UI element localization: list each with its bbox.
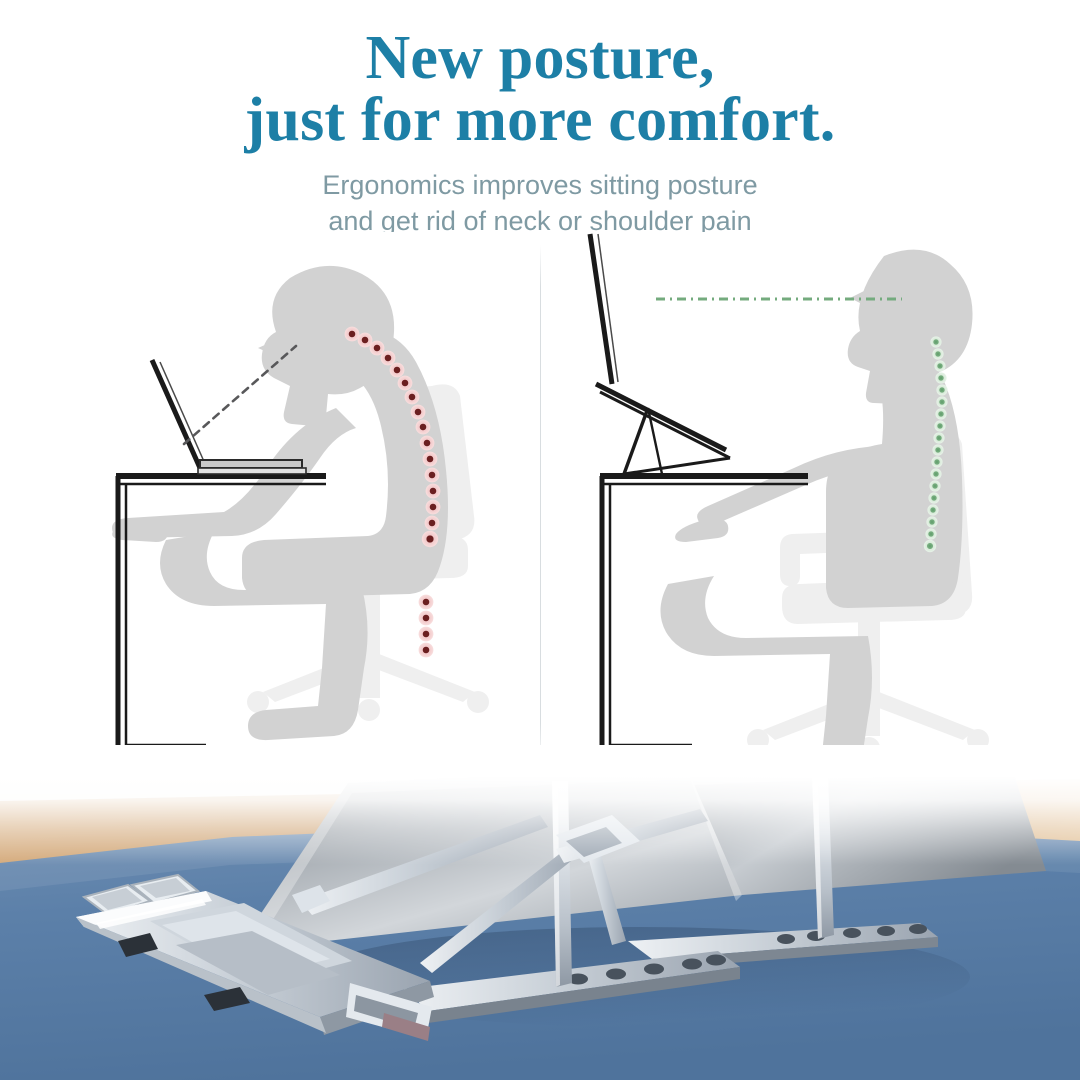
product-photo — [0, 745, 1080, 1080]
subtitle-line-1: Ergonomics improves sitting posture — [0, 168, 1080, 204]
person-upright — [660, 250, 972, 780]
headline-line-2: just for more comfort. — [0, 88, 1080, 152]
panel-divider — [540, 245, 541, 765]
headline-line-1: New posture, — [0, 26, 1080, 90]
poster-root: New posture, just for more comfort. Ergo… — [0, 0, 1080, 1080]
good-posture-panel — [590, 234, 989, 780]
page-title: New posture, just for more comfort. — [0, 26, 1080, 153]
page-subtitle: Ergonomics improves sitting posture and … — [0, 168, 1080, 239]
bad-posture-panel — [112, 266, 489, 755]
laptop-on-riser — [590, 234, 730, 474]
